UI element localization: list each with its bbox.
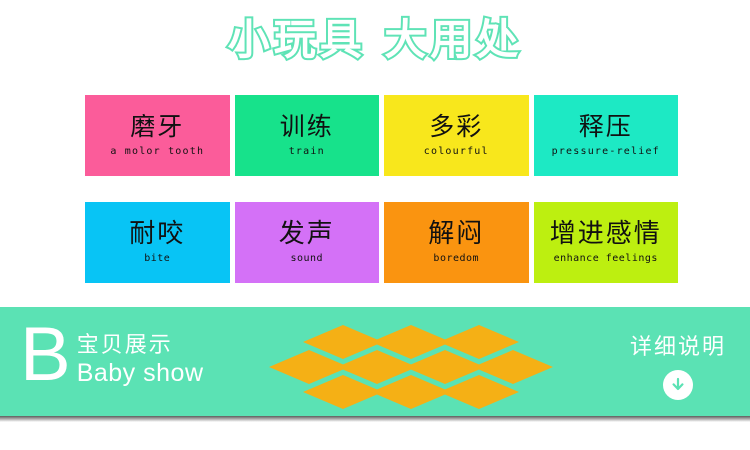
baby-show-cn-label: 宝贝展示 <box>77 333 204 358</box>
feature-card-cn-label: 增进感情 <box>550 221 662 248</box>
feature-card-en-label: bite <box>144 253 170 264</box>
arrow-down-circle-icon[interactable] <box>663 370 693 400</box>
feature-card-en-label: colourful <box>424 146 489 157</box>
baby-show-en-label: Baby show <box>77 358 204 388</box>
detail-description-label: 详细说明 <box>630 329 726 361</box>
feature-card-en-label: boredom <box>433 253 479 264</box>
title-area: 小玩具 大用处 <box>0 14 750 67</box>
banner-drop-shadow <box>0 416 750 422</box>
diamond-shape <box>439 375 519 409</box>
feature-card-pressure-relief[interactable]: 释压 pressure-relief <box>534 95 679 176</box>
detail-description-block[interactable]: 详细说明 <box>630 329 726 400</box>
feature-card-sound[interactable]: 发声 sound <box>235 202 380 283</box>
baby-show-block: B 宝贝展示 Baby show <box>20 315 204 391</box>
feature-card-molar-tooth[interactable]: 磨牙 a molor tooth <box>85 95 230 176</box>
baby-show-initial: B <box>20 319 71 391</box>
feature-card-boredom[interactable]: 解闷 boredom <box>384 202 529 283</box>
feature-card-en-label: enhance feelings <box>554 253 658 264</box>
feature-card-colourful[interactable]: 多彩 colourful <box>384 95 529 176</box>
feature-card-cn-label: 发声 <box>279 221 335 248</box>
feature-card-en-label: sound <box>290 253 323 264</box>
feature-card-cn-label: 耐咬 <box>129 221 185 248</box>
feature-card-cn-label: 训练 <box>280 114 334 140</box>
card-row-2: 耐咬 bite 发声 sound 解闷 boredom 增进感情 enhance… <box>85 202 678 283</box>
feature-card-grid: 磨牙 a molor tooth 训练 train 多彩 colourful 释… <box>85 95 678 283</box>
bottom-banner: B 宝贝展示 Baby show <box>0 307 750 416</box>
feature-card-en-label: a molor tooth <box>110 146 204 157</box>
feature-card-train[interactable]: 训练 train <box>235 95 380 176</box>
feature-card-en-label: train <box>289 146 325 157</box>
diamond-pattern-icon <box>303 325 515 409</box>
feature-card-cn-label: 解闷 <box>428 221 484 248</box>
diamond-row <box>303 375 515 409</box>
feature-card-en-label: pressure-relief <box>552 146 660 157</box>
banner-canvas: 小玩具 大用处 磨牙 a molor tooth 训练 train 多彩 col… <box>0 0 750 450</box>
feature-card-cn-label: 磨牙 <box>130 114 184 140</box>
card-row-1: 磨牙 a molor tooth 训练 train 多彩 colourful 释… <box>85 95 678 176</box>
feature-card-bite[interactable]: 耐咬 bite <box>85 202 230 283</box>
page-title: 小玩具 大用处 <box>228 14 523 67</box>
feature-card-cn-label: 释压 <box>579 114 633 140</box>
feature-card-enhance-feelings[interactable]: 增进感情 enhance feelings <box>534 202 679 283</box>
feature-card-cn-label: 多彩 <box>429 114 483 140</box>
